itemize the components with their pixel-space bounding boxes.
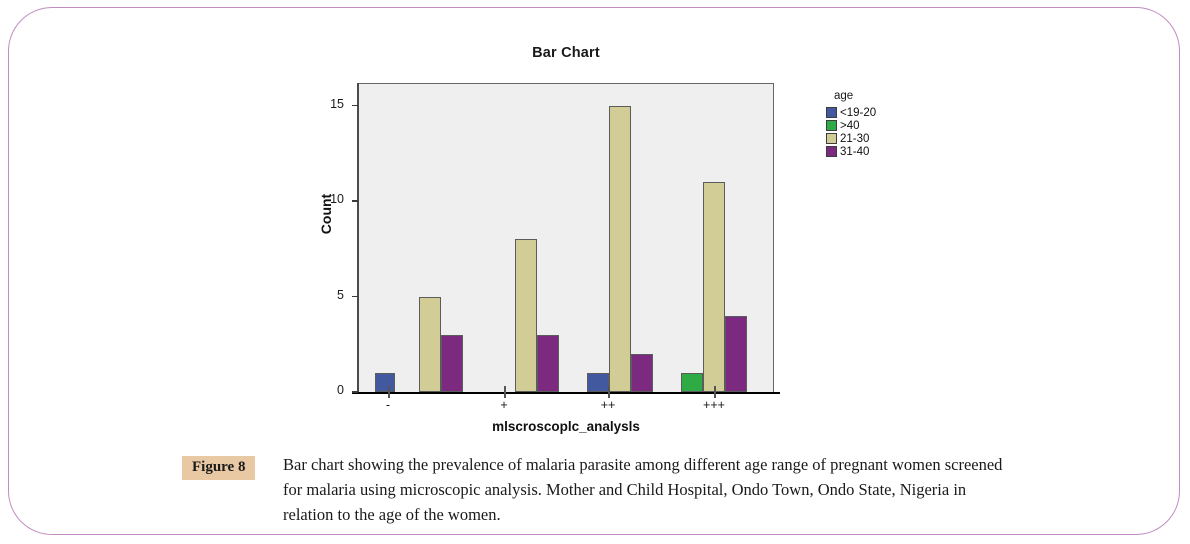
legend-entry: >40 (826, 119, 876, 132)
x-tick-mark (504, 386, 506, 398)
legend-entry: 21-30 (826, 132, 876, 145)
legend: age <19-20>4021-3031-40 (826, 90, 876, 158)
legend-entry-label: 21-30 (840, 133, 869, 145)
bar-31-40-+++ (725, 316, 747, 392)
bar-31-40-+ (537, 335, 559, 392)
x-axis-line (352, 392, 780, 394)
legend-swatch-icon (826, 107, 837, 118)
x-tick-label: + (474, 398, 534, 412)
y-tick-label: 5 (310, 288, 344, 302)
figure-number-badge: Figure 8 (182, 456, 255, 480)
x-tick-label: +++ (684, 398, 744, 412)
bar->40-+++ (681, 373, 703, 392)
legend-entry: <19-20 (826, 106, 876, 119)
bar-21-30-+ (515, 239, 537, 392)
x-axis-title: mlscroscoplc_analysls (358, 419, 774, 434)
x-tick-label: ++ (578, 398, 638, 412)
legend-entry: 31-40 (826, 145, 876, 158)
legend-entry-label: >40 (840, 120, 860, 132)
x-tick-label: - (358, 398, 418, 412)
legend-swatch-icon (826, 133, 837, 144)
chart-title: Bar Chart (358, 45, 774, 61)
bar-21-30-+++ (703, 182, 725, 392)
y-tick-mark (352, 296, 358, 298)
figure-area: Bar Chart 051015 Count -++++++ mlscrosco… (0, 0, 1190, 440)
bar-21-30-- (419, 297, 441, 392)
y-axis-title: Count (318, 194, 334, 234)
y-tick-label: 0 (310, 383, 344, 397)
legend-entries: <19-20>4021-3031-40 (826, 106, 876, 158)
legend-entry-label: <19-20 (840, 107, 876, 119)
bar-31-40-- (441, 335, 463, 392)
legend-entry-label: 31-40 (840, 146, 869, 158)
y-tick-mark (352, 200, 358, 202)
y-tick-label: 15 (310, 97, 344, 111)
plot-frame (358, 83, 774, 392)
legend-swatch-icon (826, 120, 837, 131)
bar-<19-20-- (375, 373, 395, 392)
y-axis-line (357, 83, 359, 392)
x-tick-mark (388, 386, 390, 398)
y-tick-mark (352, 105, 358, 107)
legend-swatch-icon (826, 146, 837, 157)
legend-title: age (834, 90, 876, 102)
bar-21-30-++ (609, 106, 631, 392)
bar-31-40-++ (631, 354, 653, 392)
bar-<19-20-++ (587, 373, 609, 392)
plot-bars-container (359, 84, 773, 392)
x-tick-mark (714, 386, 716, 398)
figure-caption-text: Bar chart showing the prevalence of mala… (283, 452, 1013, 527)
y-tick-mark (352, 391, 358, 393)
x-tick-mark (608, 386, 610, 398)
